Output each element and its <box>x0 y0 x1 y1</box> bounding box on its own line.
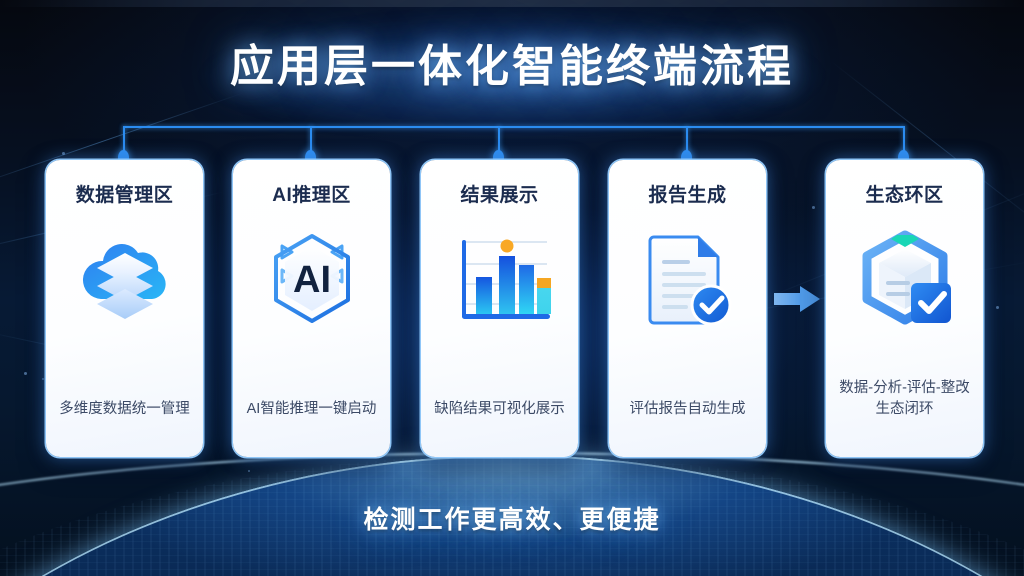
right-arrow-icon <box>774 286 820 312</box>
card-title: 报告生成 <box>648 180 726 207</box>
card-description: 多维度数据统一管理 <box>59 399 191 421</box>
card-description: 缺陷结果可视化展示 <box>434 399 566 421</box>
card-title: AI推理区 <box>272 180 351 207</box>
document-check-icon <box>638 229 738 329</box>
ai-label: AI <box>293 259 331 301</box>
flow-card-result-display[interactable]: 结果展示 <box>421 160 578 457</box>
cube-check-icon <box>853 229 957 329</box>
card-description: 数据-分析-评估-整改生态闭环 <box>839 378 971 422</box>
bar-chart-icon <box>447 229 553 329</box>
card-description: AI智能推理一键启动 <box>246 399 378 421</box>
flow-card-ai-inference[interactable]: AI推理区 <box>233 160 390 457</box>
card-description: 评估报告自动生成 <box>622 399 754 421</box>
ai-hexagon-icon: AI <box>260 229 364 329</box>
card-title: 生态环区 <box>865 180 943 207</box>
arrow-shaft <box>774 293 802 305</box>
connector-horizontal-line <box>123 126 905 128</box>
flow-card-data-management[interactable]: 数据管理区 <box>46 160 203 457</box>
card-title: 数据管理区 <box>76 180 174 207</box>
page-title-area: 应用层一体化智能终端流程 <box>0 30 1024 94</box>
slide-canvas: 应用层一体化智能终端流程 数据管理区 <box>0 0 1024 576</box>
card-title: 结果展示 <box>460 180 538 207</box>
cropped-top-strip <box>0 0 1024 7</box>
cloud-layers-icon <box>73 229 177 329</box>
footer-tagline: 检测工作更高效、更便捷 <box>0 500 1024 536</box>
flow-card-report-generation[interactable]: 报告生成 评估报告自动生成 <box>609 160 766 457</box>
arrow-head <box>800 286 820 312</box>
flow-card-list: 数据管理区 <box>0 160 1024 460</box>
page-title: 应用层一体化智能终端流程 <box>0 30 1024 94</box>
flow-card-ecosystem[interactable]: 生态环区 <box>826 160 983 457</box>
